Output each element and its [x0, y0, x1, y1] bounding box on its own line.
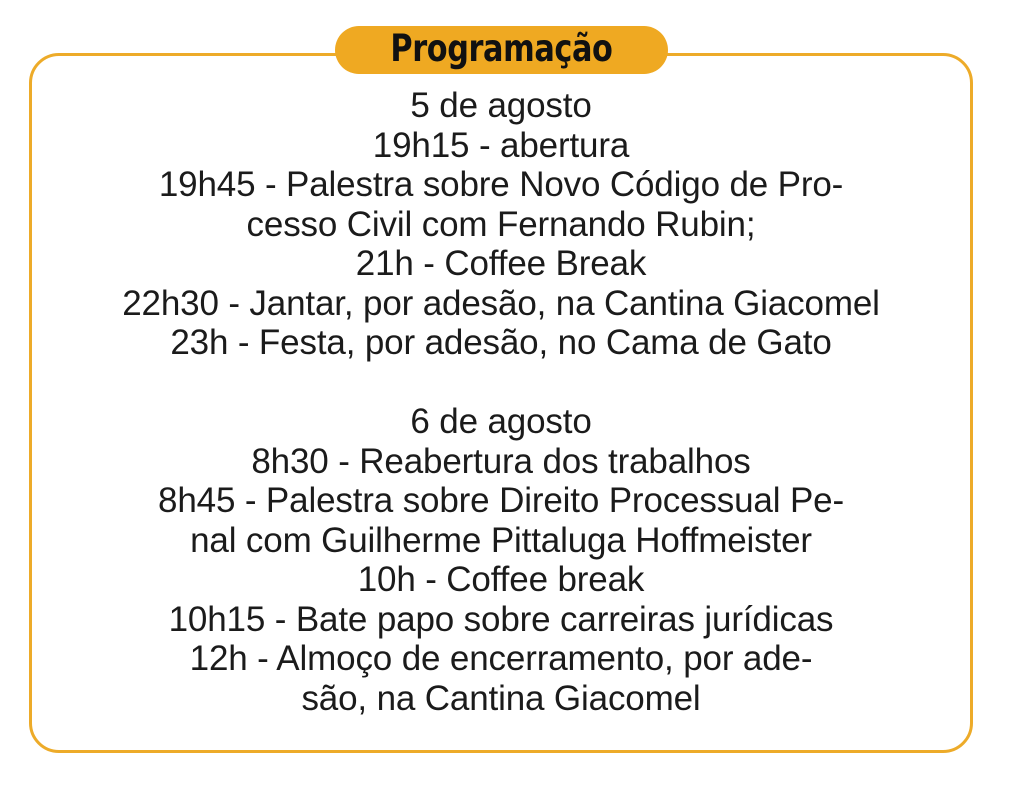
- page-title: Programação: [390, 30, 612, 70]
- schedule-day-block-1: 5 de agosto 19h15 - abertura 19h45 - Pal…: [32, 86, 970, 363]
- day-heading: 5 de agosto: [32, 86, 970, 126]
- schedule-line: 21h - Coffee Break: [32, 244, 970, 284]
- schedule-content: 5 de agosto 19h15 - abertura 19h45 - Pal…: [32, 86, 970, 718]
- schedule-line: 8h45 - Palestra sobre Direito Processual…: [32, 481, 970, 521]
- schedule-line: 19h45 - Palestra sobre Novo Código de Pr…: [32, 165, 970, 205]
- schedule-line: cesso Civil com Fernando Rubin;: [32, 205, 970, 245]
- poster-title-badge: Programação: [335, 26, 668, 74]
- schedule-line: 12h - Almoço de encerramento, por ade-: [32, 639, 970, 679]
- schedule-line: 19h15 - abertura: [32, 126, 970, 166]
- day-heading: 6 de agosto: [32, 402, 970, 442]
- schedule-line: 10h - Coffee break: [32, 560, 970, 600]
- schedule-line: são, na Cantina Giacomel: [32, 679, 970, 719]
- schedule-line: 23h - Festa, por adesão, no Cama de Gato: [32, 323, 970, 363]
- schedule-line: 22h30 - Jantar, por adesão, na Cantina G…: [32, 284, 970, 324]
- schedule-line: 8h30 - Reabertura dos trabalhos: [32, 442, 970, 482]
- schedule-line: nal com Guilherme Pittaluga Hoffmeister: [32, 521, 970, 561]
- block-spacer: [32, 363, 970, 403]
- schedule-day-block-2: 6 de agosto 8h30 - Reabertura dos trabal…: [32, 402, 970, 718]
- programacao-poster: Programação 5 de agosto 19h15 - abertura…: [0, 0, 1012, 792]
- schedule-line: 10h15 - Bate papo sobre carreiras jurídi…: [32, 600, 970, 640]
